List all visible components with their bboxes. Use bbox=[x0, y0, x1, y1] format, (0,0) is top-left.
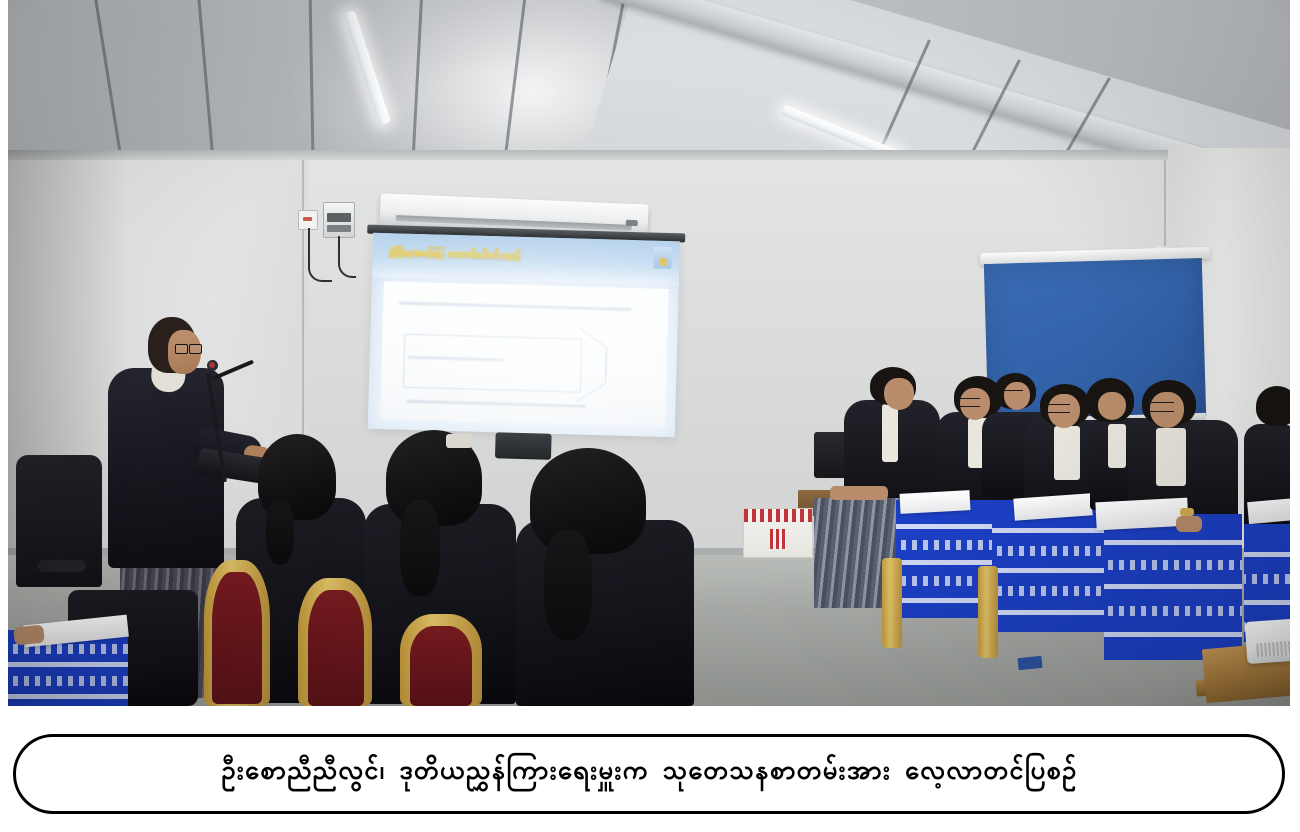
breaker-switch bbox=[327, 213, 351, 222]
chair-cushion bbox=[212, 572, 262, 704]
longyi-pattern bbox=[8, 694, 128, 699]
power-cable bbox=[338, 236, 356, 278]
attendee-hair bbox=[544, 530, 592, 640]
longyi-pattern bbox=[1104, 560, 1242, 570]
longyi-pattern bbox=[1104, 584, 1242, 589]
wall-seam bbox=[302, 160, 304, 460]
eyeglasses bbox=[1148, 402, 1174, 412]
attendee-head bbox=[1256, 386, 1290, 426]
slide-arrow-shape bbox=[403, 334, 582, 393]
banquet-chair bbox=[978, 566, 998, 658]
slide-logo bbox=[653, 247, 672, 269]
wall-trim bbox=[8, 150, 1290, 160]
attendee-hand bbox=[13, 624, 45, 645]
longyi-pattern bbox=[1104, 540, 1242, 545]
attendee-face bbox=[1098, 392, 1126, 420]
longyi-pattern bbox=[992, 546, 1116, 556]
banquet-chair bbox=[882, 558, 902, 648]
video-projector bbox=[1245, 618, 1290, 664]
slide-arrow-head bbox=[577, 337, 617, 394]
floor-marker bbox=[1017, 656, 1042, 670]
attendee-face bbox=[884, 378, 914, 410]
attendee-hand bbox=[1176, 516, 1202, 532]
longyi-pattern bbox=[992, 586, 1116, 596]
chair-cushion bbox=[410, 626, 472, 706]
page-root: ဖွံ့ဖြိုးမှုအခြေပြု စာတမ်းပါဝင်သည့် bbox=[0, 0, 1300, 832]
slide-body bbox=[380, 281, 669, 427]
handout-papers bbox=[900, 490, 971, 514]
longyi-pattern bbox=[1244, 552, 1290, 557]
event-photograph: ဖွံ့ဖြိုးမှုအခြေပြု စာတမ်းပါဝင်သည့် bbox=[8, 0, 1290, 706]
longyi-pattern bbox=[1244, 574, 1290, 584]
projector-screen: ဖွံ့ဖြိုးမှုအခြေပြု စာတမ်းပါဝင်သည့် bbox=[367, 233, 680, 466]
ac-indicator bbox=[626, 220, 638, 226]
eyeglasses bbox=[958, 398, 980, 407]
attendee-collar bbox=[1054, 426, 1080, 480]
attendee-head bbox=[530, 448, 646, 554]
longyi-pattern bbox=[1104, 632, 1242, 637]
caption-box: ဦးစောညီညီလွင်၊ ဒုတိယညွှန်ကြားရေးမှူးက သု… bbox=[13, 734, 1285, 814]
attendee-hair bbox=[266, 500, 294, 564]
longyi-pattern bbox=[1244, 600, 1290, 605]
slide-text-line bbox=[399, 302, 631, 311]
longyi-pattern bbox=[8, 676, 128, 686]
handout-papers bbox=[1095, 498, 1188, 531]
wall-socket bbox=[298, 210, 318, 230]
attendee-collar bbox=[1108, 424, 1126, 468]
attendee-collar bbox=[1156, 428, 1186, 486]
caption-text: ဦးစောညီညီလွင်၊ ဒုတိယညွှန်ကြားရေးမှူးက သု… bbox=[221, 757, 1077, 791]
slide-text-line bbox=[406, 400, 586, 408]
longyi-pattern bbox=[1104, 606, 1242, 616]
handout-papers bbox=[1247, 498, 1290, 524]
eyeglasses bbox=[1003, 390, 1023, 397]
longyi-pattern bbox=[992, 610, 1116, 615]
attendee-hands bbox=[830, 486, 888, 500]
screen-surface: ဖွံ့ဖြိုးမှုအခြေပြု စာတမ်းပါဝင်သည့် bbox=[368, 233, 680, 437]
longyi-pattern bbox=[8, 662, 128, 667]
attendee-collar bbox=[882, 404, 898, 462]
longyi-pattern bbox=[992, 568, 1116, 573]
attendee-longyi bbox=[1104, 514, 1242, 660]
eyeglasses bbox=[1046, 404, 1070, 413]
hair-clip bbox=[446, 434, 472, 448]
attendee-hair bbox=[400, 500, 440, 596]
mic-capsule bbox=[207, 360, 218, 371]
chair-cushion bbox=[308, 590, 364, 706]
wristwatch bbox=[1180, 508, 1194, 516]
cardboard-box bbox=[743, 508, 813, 558]
power-cable bbox=[308, 228, 332, 282]
chair-base bbox=[38, 560, 86, 572]
eyeglasses bbox=[175, 344, 202, 353]
screen-base bbox=[495, 432, 552, 460]
